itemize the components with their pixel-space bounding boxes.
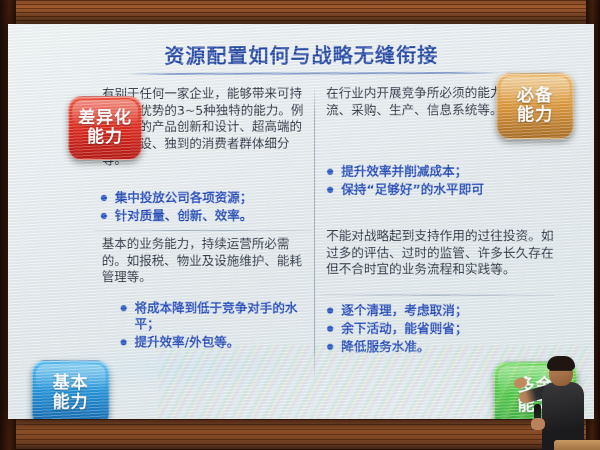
slide-body: 有别于任何一家企业，能够带来可持续竞争优势的3~5种独特的能力。例如独特的产品创… [94,79,537,403]
wall-panel-bottom [0,414,600,450]
badge-basic-capability: 基本 能力 [32,360,110,419]
left-bullets-top: 集中投放公司各项资源； 针对质量、创新、效率。 [100,190,312,226]
right-bullets-top: 提升效率并削减成本； 保持“足够好”的水平即可 [326,163,554,199]
badge-differentiating-capability: 差异化 能力 [68,96,142,160]
list-item: 提升效率并削减成本； [326,163,554,179]
badge-line-1: 差异化 [78,109,132,128]
list-item: 集中投放公司各项资源； [100,190,312,206]
presenter-hair [547,356,575,370]
badge-line-2: 能力 [53,393,89,412]
list-item: 提升效率/外包等。 [120,334,312,351]
badge-line-2: 能力 [87,128,123,147]
right-paragraph-bottom-block: 不能对战略起到支持作用的过往投资。如过多的评估、过时的监管、许多长久存在但不合时… [326,228,555,278]
right-paragraph-bottom: 不能对战略起到支持作用的过往投资。如过多的评估、过时的监管、许多长久存在但不合时… [326,228,555,278]
conference-room-photo: 资源配置如何与战略无缝衔接 有别于任何一家企业，能够带来可持续竞争优势的3~5种… [0,0,600,450]
right-bullets-bottom: 逐个清理，考虑取消； 余下活动，能省则省； 降低服务水准。 [326,303,555,358]
list-item: 保持“足够好”的水平即可 [326,182,554,198]
column-divider [314,85,315,380]
presenter-person [520,352,600,450]
presentation-slide: 资源配置如何与战略无缝衔接 有别于任何一家企业，能够带来可持续竞争优势的3~5种… [8,24,594,419]
badge-essential-capability: 必备 能力 [496,73,573,140]
title-underline [126,72,500,75]
list-item: 逐个清理，考虑取消； [326,303,555,320]
projection-screen: 资源配置如何与战略无缝衔接 有别于任何一家企业，能够带来可持续竞争优势的3~5种… [8,24,594,419]
presenter-mic-hand [531,418,545,430]
list-item: 将成本降到低于竞争对手的水平； [120,300,312,333]
left-paragraph-bottom: 基本的业务能力，持续运营所必需的。如报税、物业及设施维护、能耗管理等。 [102,236,312,286]
left-bullets-bottom: 将成本降到低于竞争对手的水平； 提升效率/外包等。 [120,300,312,353]
badge-line-1: 必备 [517,87,554,106]
glasses-icon [550,369,572,376]
slide-title-container: 资源配置如何与战略无缝衔接 [9,38,594,69]
list-item: 针对质量、创新、效率。 [100,208,312,224]
list-item: 余下活动，能省则省； [326,321,555,338]
badge-line-2: 能力 [517,106,554,125]
badge-line-1: 基本 [53,374,89,393]
left-paragraph-bottom-block: 基本的业务能力，持续运营所必需的。如报税、物业及设施维护、能耗管理等。 [102,236,312,286]
slide-title: 资源配置如何与战略无缝衔接 [164,39,438,69]
podium-table [554,440,600,450]
